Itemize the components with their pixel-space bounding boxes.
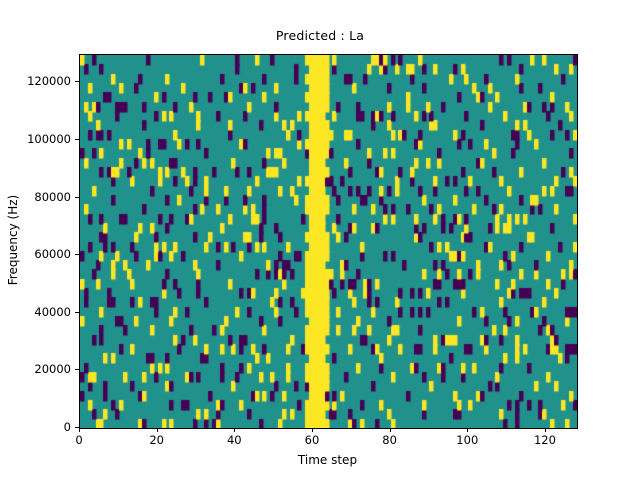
- x-tick-label: 60: [305, 433, 320, 447]
- x-tick-mark: [390, 428, 391, 432]
- y-tick-label: 100000: [71, 132, 115, 146]
- x-tick-mark: [157, 428, 158, 432]
- x-axis-label: Time step: [79, 453, 576, 467]
- y-tick-label: 60000: [71, 247, 108, 261]
- page-title: Predicted : La: [0, 28, 640, 43]
- x-tick-label: 80: [382, 433, 397, 447]
- x-tick-label: 100: [456, 433, 478, 447]
- heatmap-axes: [79, 54, 578, 429]
- y-tick-label: 0: [71, 420, 78, 434]
- x-tick-mark: [79, 428, 80, 432]
- x-tick-mark: [234, 428, 235, 432]
- y-axis-label: Frequency (Hz): [6, 195, 20, 286]
- y-tick-label: 20000: [71, 362, 108, 376]
- matplotlib-figure: Predicted : La 020406080100120 020000400…: [0, 0, 640, 480]
- x-tick-label: 120: [534, 433, 556, 447]
- y-tick-label: 120000: [71, 74, 115, 88]
- y-tick-label: 40000: [71, 305, 108, 319]
- heatmap-image: [80, 55, 577, 428]
- x-tick-mark: [467, 428, 468, 432]
- y-tick-label: 80000: [71, 190, 108, 204]
- x-tick-label: 0: [75, 433, 82, 447]
- x-tick-mark: [545, 428, 546, 432]
- x-tick-label: 40: [227, 433, 242, 447]
- x-tick-label: 20: [149, 433, 164, 447]
- x-tick-mark: [312, 428, 313, 432]
